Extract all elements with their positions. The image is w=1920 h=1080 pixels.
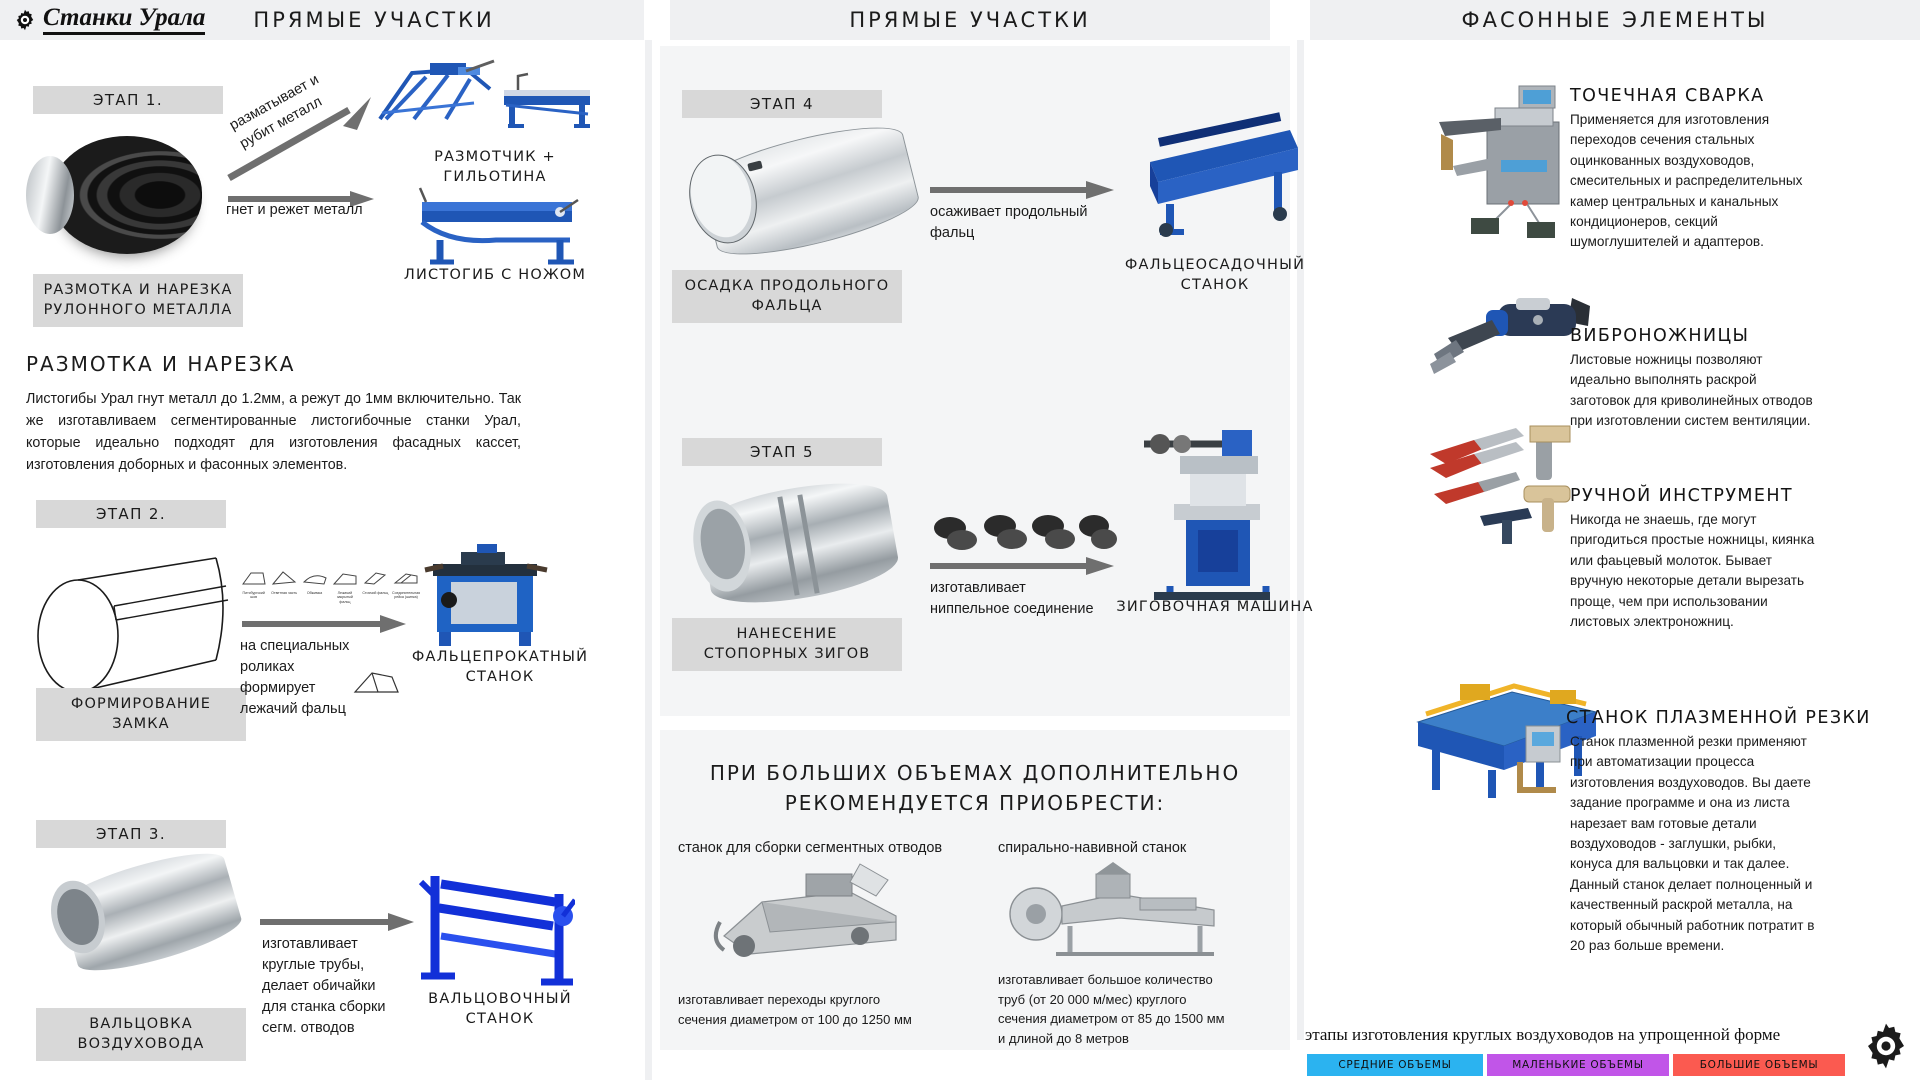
footer-note: этапы изготовления круглых воздуховодов … xyxy=(1305,1025,1845,1045)
stage2-target-caption: ФАЛЬЦЕПРОКАТНЫЙ СТАНОК xyxy=(400,648,600,687)
stage3-chip: ЭТАП 3. xyxy=(36,820,226,848)
duct-lock-diagram xyxy=(30,540,240,700)
stage1-label: РАЗМОТКА И НАРЕЗКА РУЛОННОГО МЕТАЛЛА xyxy=(33,274,243,327)
stage1-chip: ЭТАП 1. xyxy=(33,86,223,114)
stage1-arrow-down-label: гнет и режет металл xyxy=(226,200,416,221)
legend-pill-large[interactable]: БОЛЬШИЕ ОБЪЕМЫ xyxy=(1673,1054,1845,1076)
seam-types-strip: Питсбургский шов Ответная часть Обжимка … xyxy=(240,570,420,604)
spot-welder-icon xyxy=(1415,78,1595,238)
rc-text-3: Станок плазменной резки применяют при ав… xyxy=(1570,732,1820,956)
stage5-chip: ЭТАП 5 xyxy=(682,438,882,466)
stage4-arrow xyxy=(928,180,1118,202)
rc-title-1: ВИБРОНОЖНИЦЫ xyxy=(1570,326,1749,346)
seam-type-item: Стоячий фальц xyxy=(362,570,389,604)
stage4-target-caption: ФАЛЬЦЕОСАДОЧНЫЙ СТАНОК xyxy=(1100,256,1330,295)
stage5-target-caption: ЗИГОВОЧНАЯ МАШИНА xyxy=(1100,598,1330,618)
rc-title-2: РУЧНОЙ ИНСТРУМЕНТ xyxy=(1570,486,1793,506)
seam-shape-icon xyxy=(241,570,267,586)
stage3-arrow xyxy=(258,912,418,934)
seam-type-label: Стоячий фальц xyxy=(362,591,389,595)
rolling-machine-image xyxy=(415,856,575,986)
seam-shape-icon xyxy=(362,570,388,586)
rc-title-3: СТАНОК ПЛАЗМЕННОЙ РЕЗКИ xyxy=(1566,708,1871,728)
zig-rollers-image xyxy=(928,506,1118,558)
decoiler-machine-image xyxy=(370,55,500,127)
stage3-label: ВАЛЬЦОВКА ВОЗДУХОВОДА xyxy=(36,1008,246,1061)
extra-item-title-2: спирально-навивной станок xyxy=(998,838,1288,859)
section-heading: РАЗМОТКА И НАРЕЗКА xyxy=(26,352,295,376)
duct-with-zigs-image xyxy=(674,478,914,614)
rc-text-1: Листовые ножницы позволяют идеально выпо… xyxy=(1570,350,1820,432)
footer-gear-icon xyxy=(1862,1022,1910,1070)
rc-text-2: Никогда не знаешь, где могут пригодиться… xyxy=(1570,510,1820,632)
lying-seam-icon xyxy=(352,668,402,698)
seam-type-label: Лежачий закрытый фальц xyxy=(331,591,358,604)
right-column: ТОЧЕЧНАЯ СВАРКА Применяется для изготовл… xyxy=(1310,0,1920,1080)
stage2-label: ФОРМИРОВАНИЕ ЗАМКА xyxy=(36,688,246,741)
stage2-chip: ЭТАП 2. xyxy=(36,500,226,528)
spiral-duct-machine-image xyxy=(1000,860,1230,965)
segment-bend-assembly-machine-image xyxy=(710,862,910,962)
round-duct-image xyxy=(40,858,240,968)
seam-type-label: Обжимка xyxy=(301,591,328,595)
steel-coil-image xyxy=(52,136,202,254)
footer-legend: СРЕДНИЕ ОБЪЕМЫ МАЛЕНЬКИЕ ОБЪЕМЫ БОЛЬШИЕ … xyxy=(1307,1054,1847,1076)
stage4-arrow-label: осаживает продольный фальц xyxy=(930,202,1140,244)
extra-item-note-2: изготавливает большое количество труб (о… xyxy=(998,970,1308,1048)
seam-type-item: Питсбургский шов xyxy=(240,570,267,604)
stage4-chip: ЭТАП 4 xyxy=(682,90,882,118)
section-paragraph: Листогибы Урал гнут металл до 1.2мм, а р… xyxy=(26,388,521,477)
stage2-arrow xyxy=(240,614,410,636)
seam-shape-icon xyxy=(332,570,358,586)
seam-type-label: Питсбургский шов xyxy=(240,591,267,600)
extra-heading: ПРИ БОЛЬШИХ ОБЪЕМАХ ДОПОЛНИТЕЛЬНО РЕКОМЕ… xyxy=(680,758,1270,818)
guillotine-machine-image xyxy=(498,70,598,130)
legend-pill-medium[interactable]: СРЕДНИЕ ОБЪЕМЫ xyxy=(1307,1054,1483,1076)
rc-text-0: Применяется для изготовления переходов с… xyxy=(1570,110,1820,253)
brake-with-knife-image xyxy=(410,182,590,268)
middle-column: ЭТАП 4 ОСАДКА ПРОДОЛЬНОГО ФАЛЬЦА осажива… xyxy=(650,0,1310,1080)
seam-rolling-machine-image xyxy=(415,538,555,650)
rc-title-0: ТОЧЕЧНАЯ СВАРКА xyxy=(1570,86,1765,106)
duct-with-seam-image xyxy=(672,130,932,260)
zig-machine-image xyxy=(1130,400,1290,600)
stage5-label: НАНЕСЕНИЕ СТОПОРНЫХ ЗИГОВ xyxy=(672,618,902,671)
extra-item-title-1: станок для сборки сегментных отводов xyxy=(678,838,968,859)
stage5-arrow xyxy=(928,556,1118,578)
seam-type-item: Лежачий закрытый фальц xyxy=(331,570,358,604)
extra-item-note-1: изготавливает переходы круглого сечения … xyxy=(678,990,978,1029)
legend-pill-small[interactable]: МАЛЕНЬКИЕ ОБЪЕМЫ xyxy=(1487,1054,1669,1076)
seam-type-item: Ответная часть xyxy=(270,570,297,604)
seam-shape-icon xyxy=(302,570,328,586)
seam-shape-icon xyxy=(271,570,297,586)
seam-closing-machine-image xyxy=(1128,108,1308,248)
stage4-label: ОСАДКА ПРОДОЛЬНОГО ФАЛЬЦА xyxy=(672,270,902,323)
stage3-arrow-label: изготавливает круглые трубы, делает обич… xyxy=(262,934,422,1039)
stage1-target2-caption: ЛИСТОГИБ С НОЖОМ xyxy=(390,266,600,286)
seam-type-label: Ответная часть xyxy=(270,591,297,595)
left-column: ЭТАП 1. РАЗМОТКА И НАРЕЗКА РУЛОННОГО МЕТ… xyxy=(0,0,650,1080)
poster-root: Станки Урала ПРЯМЫЕ УЧАСТКИ ПРЯМЫЕ УЧАСТ… xyxy=(0,0,1920,1080)
stage3-target-caption: ВАЛЬЦОВОЧНЫЙ СТАНОК xyxy=(400,990,600,1029)
seam-type-item: Обжимка xyxy=(301,570,328,604)
